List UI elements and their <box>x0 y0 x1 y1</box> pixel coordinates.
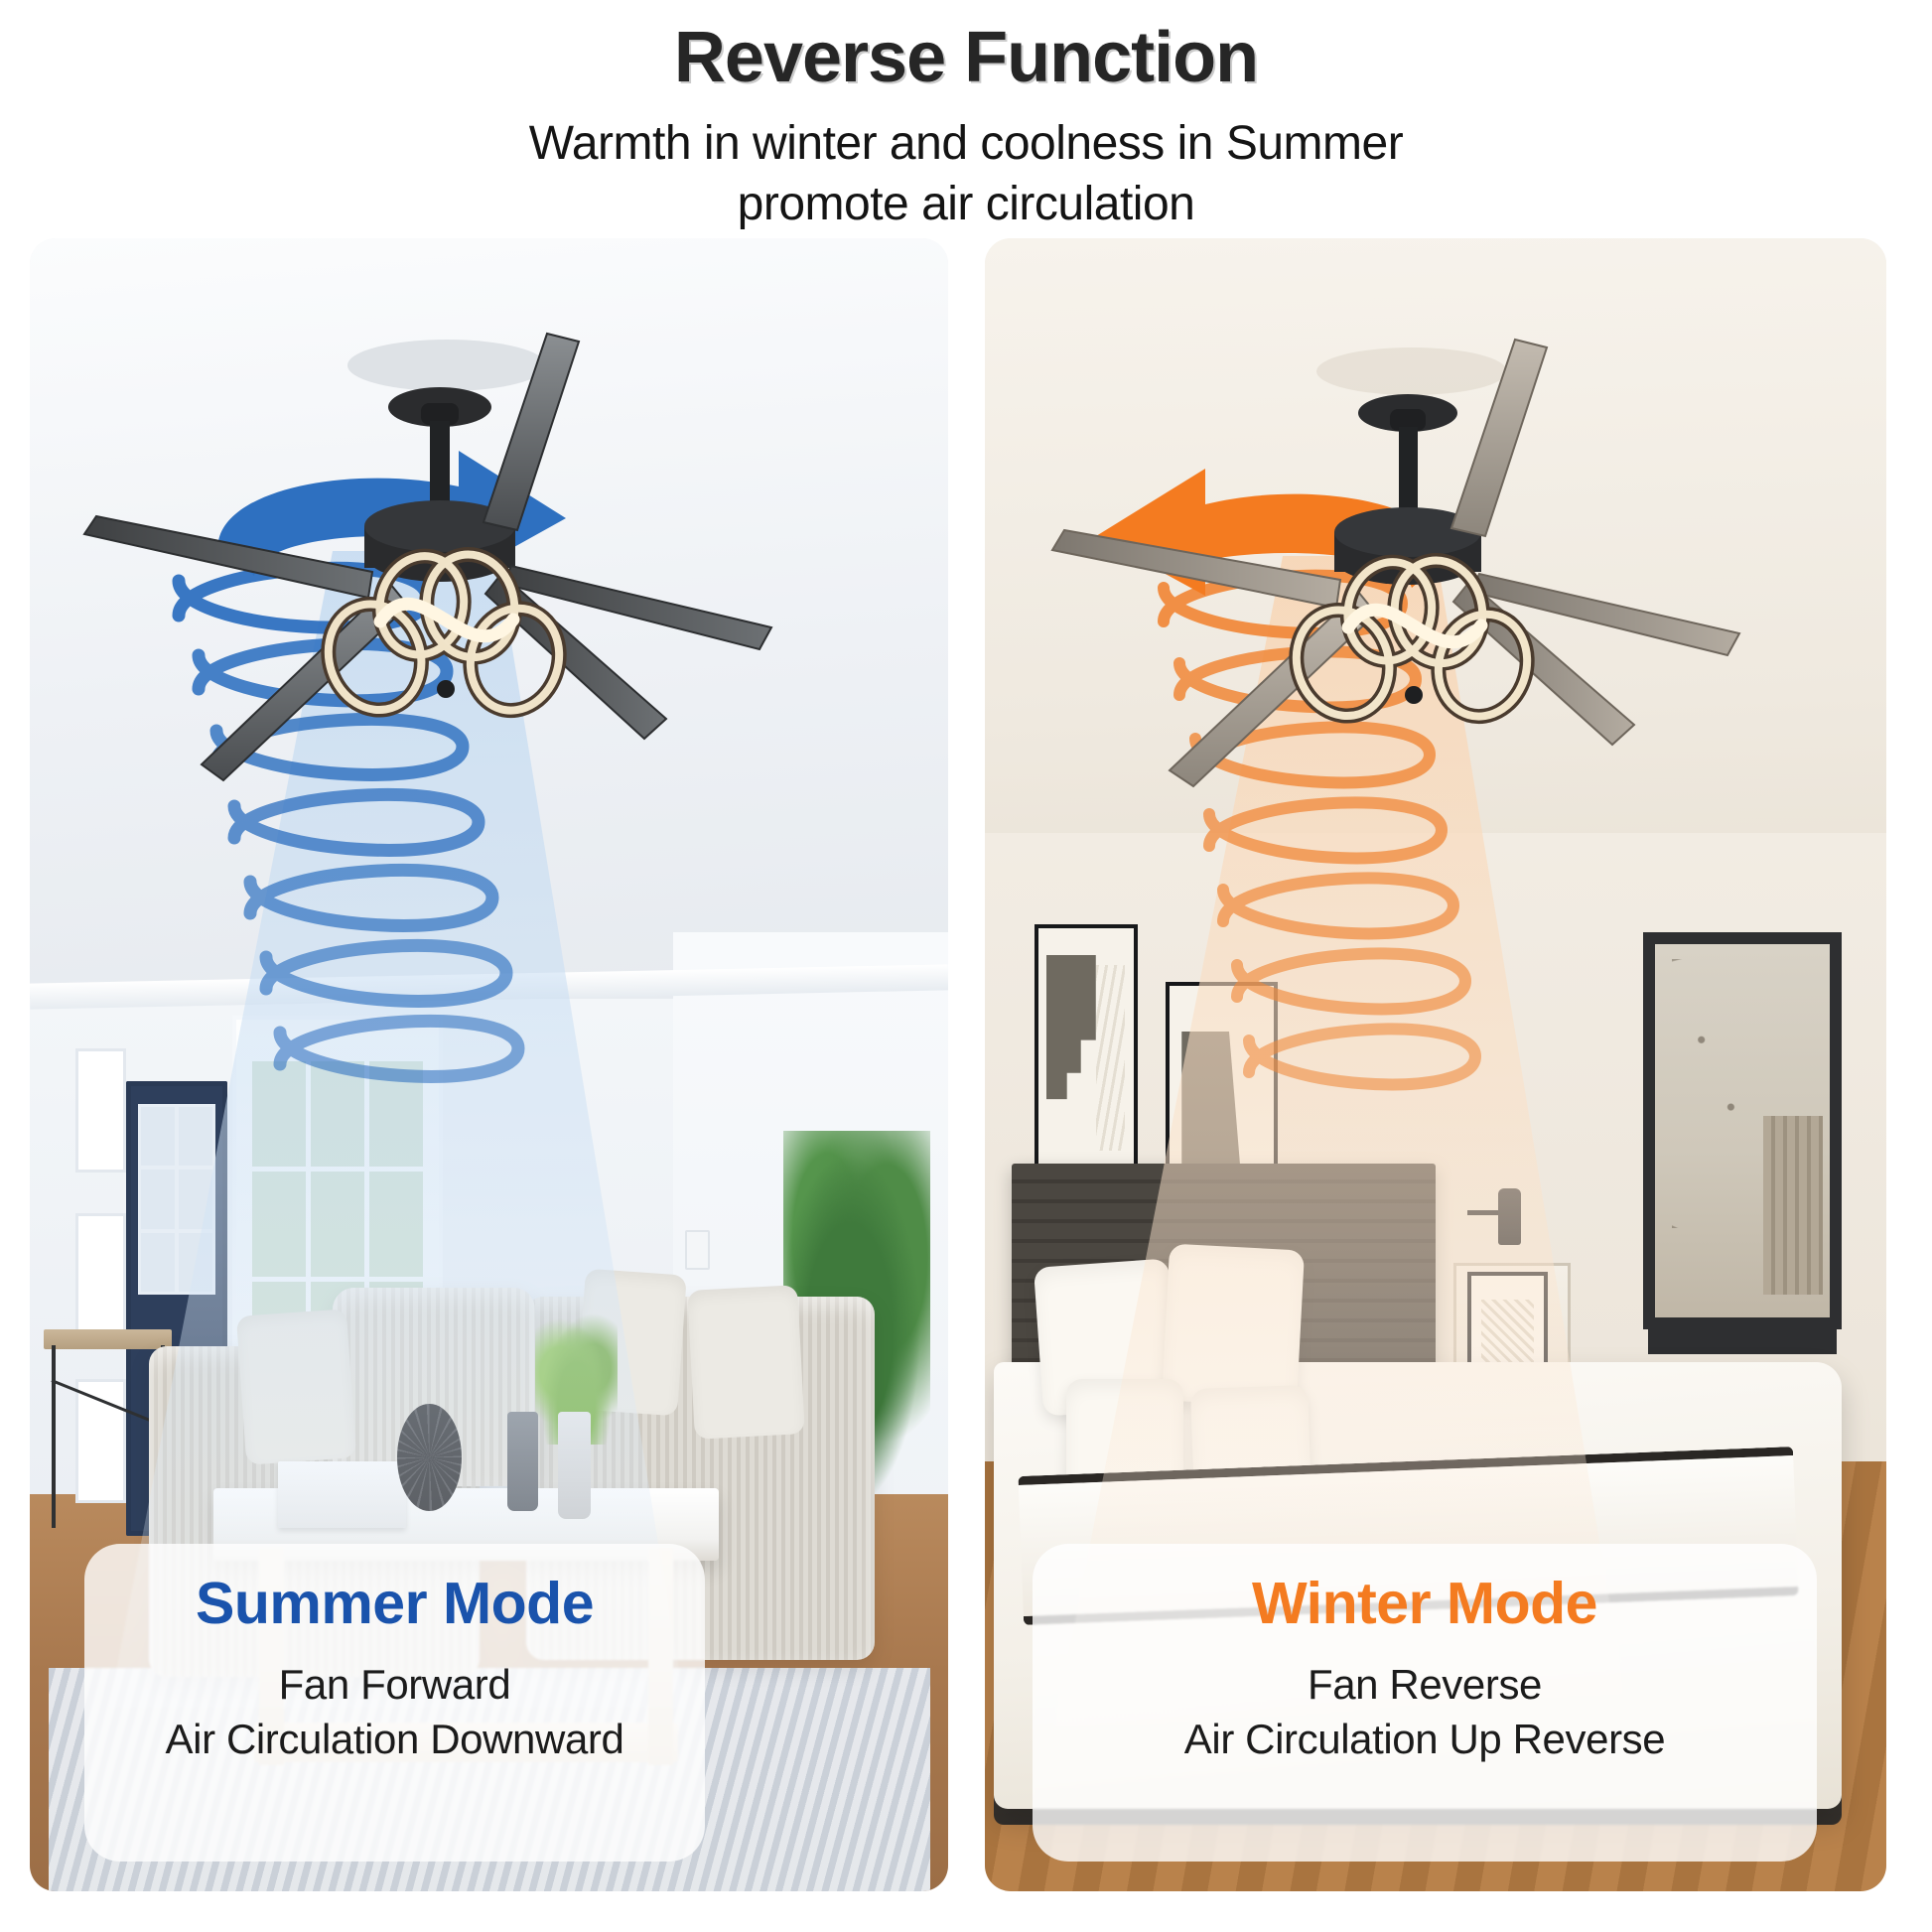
wall-outlet <box>685 1230 709 1270</box>
grey-vase <box>507 1412 538 1511</box>
header: Reverse Function Warmth in winter and co… <box>0 0 1932 238</box>
door-window-panes <box>138 1104 214 1295</box>
mode-detail-summer: Fan Forward Air Circulation Downward <box>108 1657 681 1767</box>
bedroom-ceiling <box>985 238 1886 899</box>
mode-line-2: Air Circulation Downward <box>108 1712 681 1766</box>
decorative-orb <box>397 1404 462 1511</box>
throw-pillow <box>687 1285 805 1439</box>
page-subtitle: Warmth in winter and coolness in Summer … <box>529 113 1403 235</box>
throw-pillow <box>236 1310 356 1465</box>
panel-summer[interactable]: Summer Mode Fan Forward Air Circulation … <box>30 238 948 1891</box>
subtitle-line-1: Warmth in winter and coolness in Summer <box>529 113 1403 174</box>
mode-line-1: Fan Reverse <box>1056 1657 1793 1712</box>
living-room-ceiling <box>30 238 948 1016</box>
speckled-vase <box>558 1412 591 1519</box>
subtitle-line-2: promote air circulation <box>529 174 1403 234</box>
mode-detail-winter: Fan Reverse Air Circulation Up Reverse <box>1056 1657 1793 1767</box>
wall-sconce <box>1467 1173 1521 1264</box>
mode-title-summer: Summer Mode <box>108 1574 681 1635</box>
bedroom-window <box>1643 932 1842 1329</box>
framed-art <box>1035 924 1138 1197</box>
panel-winter[interactable]: Winter Mode Fan Reverse Air Circulation … <box>985 238 1886 1891</box>
stacked-books <box>278 1461 407 1528</box>
wall-frame <box>75 1048 126 1173</box>
mode-line-1: Fan Forward <box>108 1657 681 1712</box>
mode-card-winter[interactable]: Winter Mode Fan Reverse Air Circulation … <box>1033 1544 1817 1862</box>
wall-frame <box>75 1213 126 1337</box>
bed-pillow <box>1162 1243 1305 1407</box>
infographic-page: Reverse Function Warmth in winter and co… <box>0 0 1932 1932</box>
mode-title-winter: Winter Mode <box>1056 1574 1793 1635</box>
mode-card-summer[interactable]: Summer Mode Fan Forward Air Circulation … <box>84 1544 705 1862</box>
page-title: Reverse Function <box>674 22 1258 93</box>
mode-line-2: Air Circulation Up Reverse <box>1056 1712 1793 1766</box>
